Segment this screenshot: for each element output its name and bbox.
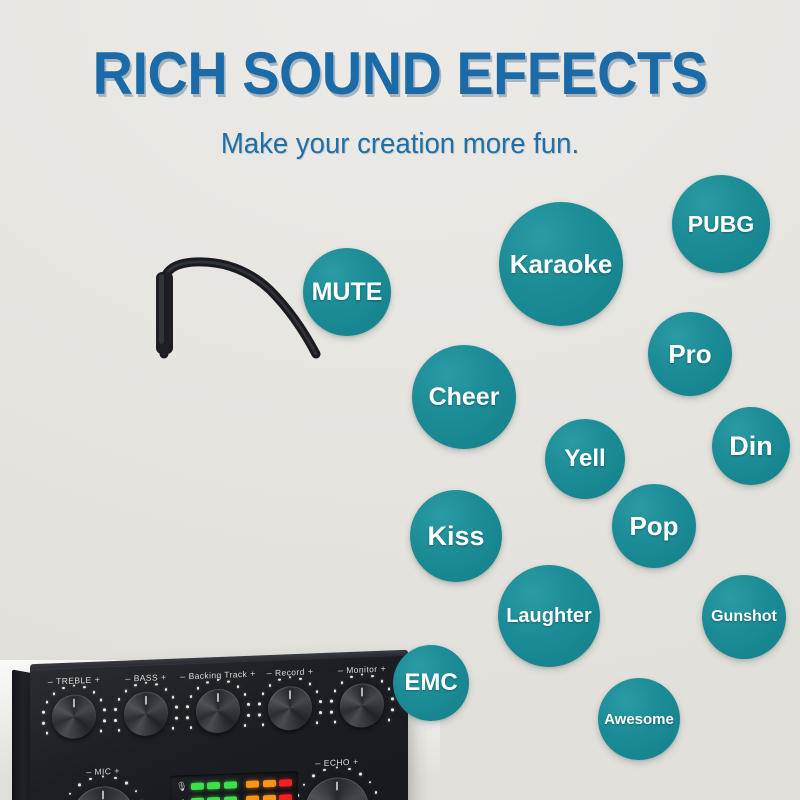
knob-indicator-dot [125,689,128,692]
knob-indicator-dot [237,685,240,688]
microphone-icon: 🎙 [176,779,187,794]
knob-indicator-dot [186,716,189,719]
led-segment [207,782,220,789]
knob-indicator-dot [388,719,391,722]
knob-indicator-dot [244,693,247,696]
knob-indicator-dot [93,691,96,694]
knob-indicator-dot [278,678,281,681]
music-wave-icon: ♫ [176,794,187,800]
knob-indicator-dot [330,711,333,714]
knob-indicator-dot [103,709,106,712]
knob-indicator-dot [299,677,302,680]
knob-indicator-dot [247,714,250,717]
knob-indicator-dot [100,699,103,702]
knob-indicator-dot [42,711,45,714]
knob-indicator-dot [262,692,265,695]
knob-indicator-dot [323,768,326,771]
minus-icon: – [338,665,343,675]
knob-indicator-dot [186,705,189,708]
knob-indicator-dot [217,679,220,682]
bubble-label: Cheer [429,385,500,410]
knob-dial[interactable] [264,681,316,735]
knob-indicator-dot [118,698,121,701]
knob-indicator-dot [350,675,353,678]
bubble-laughter: Laughter [498,565,600,667]
knob-indicator-dot [118,729,121,732]
knob-indicator-dot [46,732,49,735]
bubble-din: Din [712,407,790,485]
knob-indicator-dot [388,688,391,691]
led-segment [279,794,292,800]
knob-indicator-dot [227,680,230,683]
knob-indicator-dot [244,724,247,727]
knob-indicator-dot [69,792,72,795]
knob-record[interactable]: –Record+ [256,666,324,736]
knob-indicator-dot [102,775,105,778]
knob-indicator-dot [319,711,322,714]
bubble-emc: EMC [393,645,469,721]
knob-indicator-dot [125,781,128,784]
bubble-cheer: Cheer [412,345,516,449]
minus-icon: – [48,676,53,686]
minus-icon: – [86,767,91,777]
bubble-label: Pro [668,341,711,367]
knob-treble[interactable]: –TREBLE+ [40,674,108,744]
bubble-pop: Pop [612,484,696,568]
knob-mic-dial[interactable] [66,780,140,800]
knob-indicator-dot [83,686,86,689]
knob-indicator-dot [114,708,117,711]
knob-indicator-dot [103,719,106,722]
knob-indicator-dot [42,722,45,725]
bubble-gunshot: Gunshot [702,575,786,659]
bubble-pro: Pro [648,312,732,396]
knob-indicator-dot [206,681,209,684]
minus-icon: – [180,671,185,681]
bubble-label: Karaoke [510,251,613,277]
bubble-label: Yell [564,447,605,471]
knob-dial[interactable] [192,684,244,738]
knob-indicator-dot [78,783,81,786]
knob-indicator-dot [175,706,178,709]
knob-dial[interactable] [336,679,388,733]
knob-indicator-dot [258,713,261,716]
page-subtitle: Make your creation more fun. [20,128,780,161]
knob-indicator-dot [172,727,175,730]
led-segment [246,795,259,800]
led-segment [224,781,237,788]
knob-indicator-dot [134,684,137,687]
knob-indicator-dot [155,683,158,686]
plus-icon: + [308,666,314,676]
knob-indicator-dot [330,700,333,703]
knob-echo-dial[interactable] [300,771,374,800]
knob-indicator-dot [381,680,384,683]
bubble-pubg: PUBG [672,175,770,273]
knob-indicator-dot [312,774,315,777]
plus-icon: + [95,675,101,685]
plus-icon: + [161,672,167,682]
knob-indicator-dot [53,692,56,695]
knob-indicator-dot [197,687,200,690]
knob-mic[interactable]: – MIC + [58,765,148,800]
knob-dial[interactable] [120,687,172,741]
knob-indicator-dot [135,790,138,793]
led-segment [246,780,259,787]
plus-icon: + [114,766,120,776]
knob-indicator-dot [316,690,319,693]
knob-indicator-dot [375,791,378,794]
knob-indicator-dot [348,768,351,771]
bubble-label: Awesome [604,712,674,727]
knob-indicator-dot [359,772,362,775]
bubble-awesome: Awesome [598,678,680,760]
bubble-label: EMC [404,671,457,695]
knob-indicator-dot [334,690,337,693]
poster-canvas: RICH SOUND EFFECTS Make your creation mo… [0,0,800,800]
device-controls: –TREBLE+–BASS+–Backing Track+–Record+–Mo… [30,655,408,800]
bubble-kiss: Kiss [410,490,502,582]
knob-indicator-dot [165,688,168,691]
sound-card-device: –TREBLE+–BASS+–Backing Track+–Record+–Mo… [0,300,420,720]
knob-echo[interactable]: – ECHO + [292,756,382,800]
knob-indicator-dot [336,766,339,769]
led-segment [279,779,292,786]
knob-indicator-dot [172,696,175,699]
knob-indicator-dot [371,675,374,678]
knob-indicator-dot [289,676,292,679]
knob-monitor[interactable]: –Monitor+ [328,663,396,733]
knob-indicator-dot [269,684,272,687]
knob-bass[interactable]: –BASS+ [112,671,180,741]
knob-indicator-dot [175,717,178,720]
knob-indicator-dot [73,684,76,687]
plus-icon: + [353,757,359,767]
knob-indicator-dot [309,682,312,685]
led-segment [191,783,204,790]
knob-indicator-dot [341,681,344,684]
knob-indicator-dot [319,700,322,703]
knob-indicator-dot [391,698,394,701]
knob-indicator-dot [391,708,394,711]
knob-indicator-dot [46,701,49,704]
page-title: RICH SOUND EFFECTS [28,44,772,104]
led-segment [263,780,276,787]
knob-indicator-dot [114,719,117,722]
knob-indicator-dot [190,695,193,698]
plus-icon: + [250,669,256,679]
knob-dial[interactable] [48,690,100,744]
minus-icon: – [267,668,272,678]
bubble-mute: MUTE [303,248,391,336]
bubble-label: Gunshot [711,609,777,625]
knob-indicator-dot [89,777,92,780]
knob-indicator-dot [303,783,306,786]
bubble-label: PUBG [688,213,754,236]
minus-icon: – [315,758,320,768]
knob-indicator-dot [334,721,337,724]
knob-indicator-dot [316,721,319,724]
led-segment [263,795,276,800]
knob-indicator-dot [100,730,103,733]
plus-icon: + [380,664,386,674]
knob-indicator-dot [114,776,117,779]
bubble-label: MUTE [312,280,383,305]
bubble-label: Din [729,433,773,460]
knob-indicator-dot [369,781,372,784]
led-segment [224,796,237,800]
knob-indicator-dot [62,686,65,689]
knob-indicator-dot [190,726,193,729]
bubble-label: Pop [629,513,678,539]
minus-icon: – [125,673,130,683]
knob-indicator-dot [247,703,250,706]
bubble-yell: Yell [545,419,625,499]
knob-indicator-dot [262,723,265,726]
knob-row-top: –TREBLE+–BASS+–Backing Track+–Record+–Mo… [40,663,400,769]
bubble-label: Kiss [427,523,484,550]
bubble-karaoke: Karaoke [499,202,623,326]
knob-indicator-dot [361,673,364,676]
knob-indicator-dot [258,703,261,706]
knob-backing-track[interactable]: –Backing Track+ [184,669,252,739]
led-level-meter: 🎙♫☎ [170,771,298,800]
knob-indicator-dot [145,681,148,684]
bubble-label: Laughter [506,606,592,626]
